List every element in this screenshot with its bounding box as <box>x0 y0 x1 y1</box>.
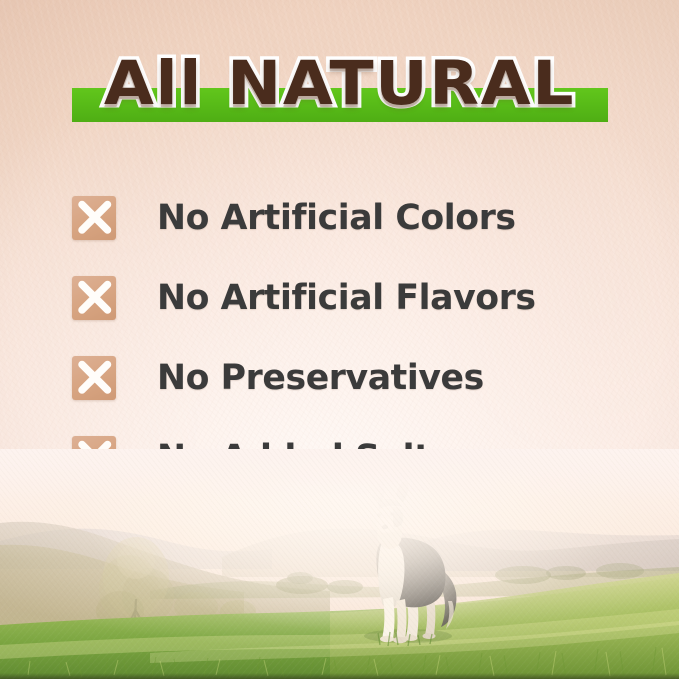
list-item: No Artificial Flavors <box>72 258 632 338</box>
list-item: No Preservatives <box>72 338 632 418</box>
landscape-dog-photo <box>0 449 679 679</box>
x-mark-icon <box>72 196 116 240</box>
page-title: All NATURAL <box>0 53 679 115</box>
list-item-label: No Artificial Colors <box>157 199 516 237</box>
x-mark-icon <box>72 356 116 400</box>
x-mark-icon <box>72 276 116 320</box>
list-item-label: No Preservatives <box>157 359 484 397</box>
list-item: No Artificial Colors <box>72 178 632 258</box>
list-item-label: No Artificial Flavors <box>157 279 536 317</box>
poster-header: All NATURAL <box>0 0 679 150</box>
all-natural-product-poster: All NATURAL No Artificial Colors No Arti… <box>0 0 679 679</box>
